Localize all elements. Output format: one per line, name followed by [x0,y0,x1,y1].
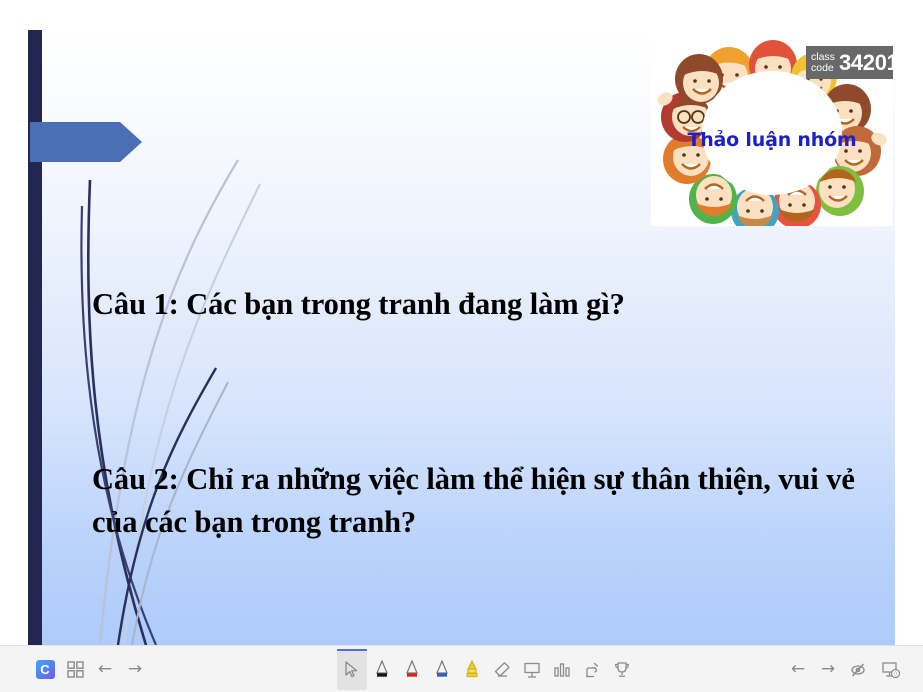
bottom-toolbar: C ← → [0,645,923,692]
blue-arrow-shape [30,122,142,162]
svg-text:0: 0 [894,672,897,678]
toolbar-left-group: C ← → [30,646,150,692]
nav-back-button[interactable]: ← [90,650,120,690]
toolbar-right-group: ← → 0 [783,646,907,692]
class-code-value: 34201 [839,50,893,76]
hand-raise-icon [583,661,601,679]
pen-blue-button[interactable] [427,650,457,690]
highlighter-icon [464,660,480,679]
pen-red-button[interactable] [397,650,427,690]
next-slide-button[interactable]: → [813,650,843,690]
whiteboard-button[interactable] [517,650,547,690]
class-code-badge: class code 34201 [806,46,893,79]
eye-off-icon [849,661,867,679]
cursor-tool-button[interactable] [337,650,367,690]
question-2-text: Câu 2: Chỉ ra những việc làm thể hiện sự… [92,458,882,545]
class-code-label-line1: class [811,52,835,63]
cursor-arrow-icon [344,661,360,678]
highlighter-yellow-button[interactable] [457,650,487,690]
hide-eye-button[interactable] [843,650,873,690]
class-code-label: class code [811,52,835,73]
grid-menu-icon [67,661,84,678]
pen-red-icon [404,660,420,679]
arrow-left-icon: ← [98,661,112,678]
app-logo-icon: C [36,660,55,679]
trophy-icon [613,661,631,679]
pen-black-icon [374,660,390,679]
nav-forward-button[interactable]: → [120,650,150,690]
group-image-caption: Thảo luận nhóm [651,129,893,151]
class-code-label-line2: code [811,63,835,74]
eraser-icon [493,661,511,679]
bar-chart-icon [553,661,571,679]
toolbar-center-group [337,646,637,692]
presentation-viewer: Thảo luận nhóm class code 34201 Câu 1: C… [0,0,923,692]
group-discussion-image[interactable]: Thảo luận nhóm class code 34201 [651,33,893,226]
question-1-text: Câu 1: Các bạn trong tranh đang làm gì? [92,283,882,326]
arrow-left-icon: ← [791,661,805,678]
pen-black-button[interactable] [367,650,397,690]
app-logo-button[interactable]: C [30,650,60,690]
whiteboard-easel-icon [523,661,541,679]
timer-screen-icon: 0 [881,660,900,679]
grid-menu-button[interactable] [60,650,90,690]
prev-slide-button[interactable]: ← [783,650,813,690]
poll-chart-button[interactable] [547,650,577,690]
arrow-right-icon: → [128,661,142,678]
eraser-button[interactable] [487,650,517,690]
slide-canvas[interactable]: Thảo luận nhóm class code 34201 Câu 1: C… [28,30,895,645]
pen-blue-icon [434,660,450,679]
arrow-right-icon: → [821,661,835,678]
trophy-button[interactable] [607,650,637,690]
hand-raise-button[interactable] [577,650,607,690]
timer-screen-button[interactable]: 0 [873,650,907,690]
